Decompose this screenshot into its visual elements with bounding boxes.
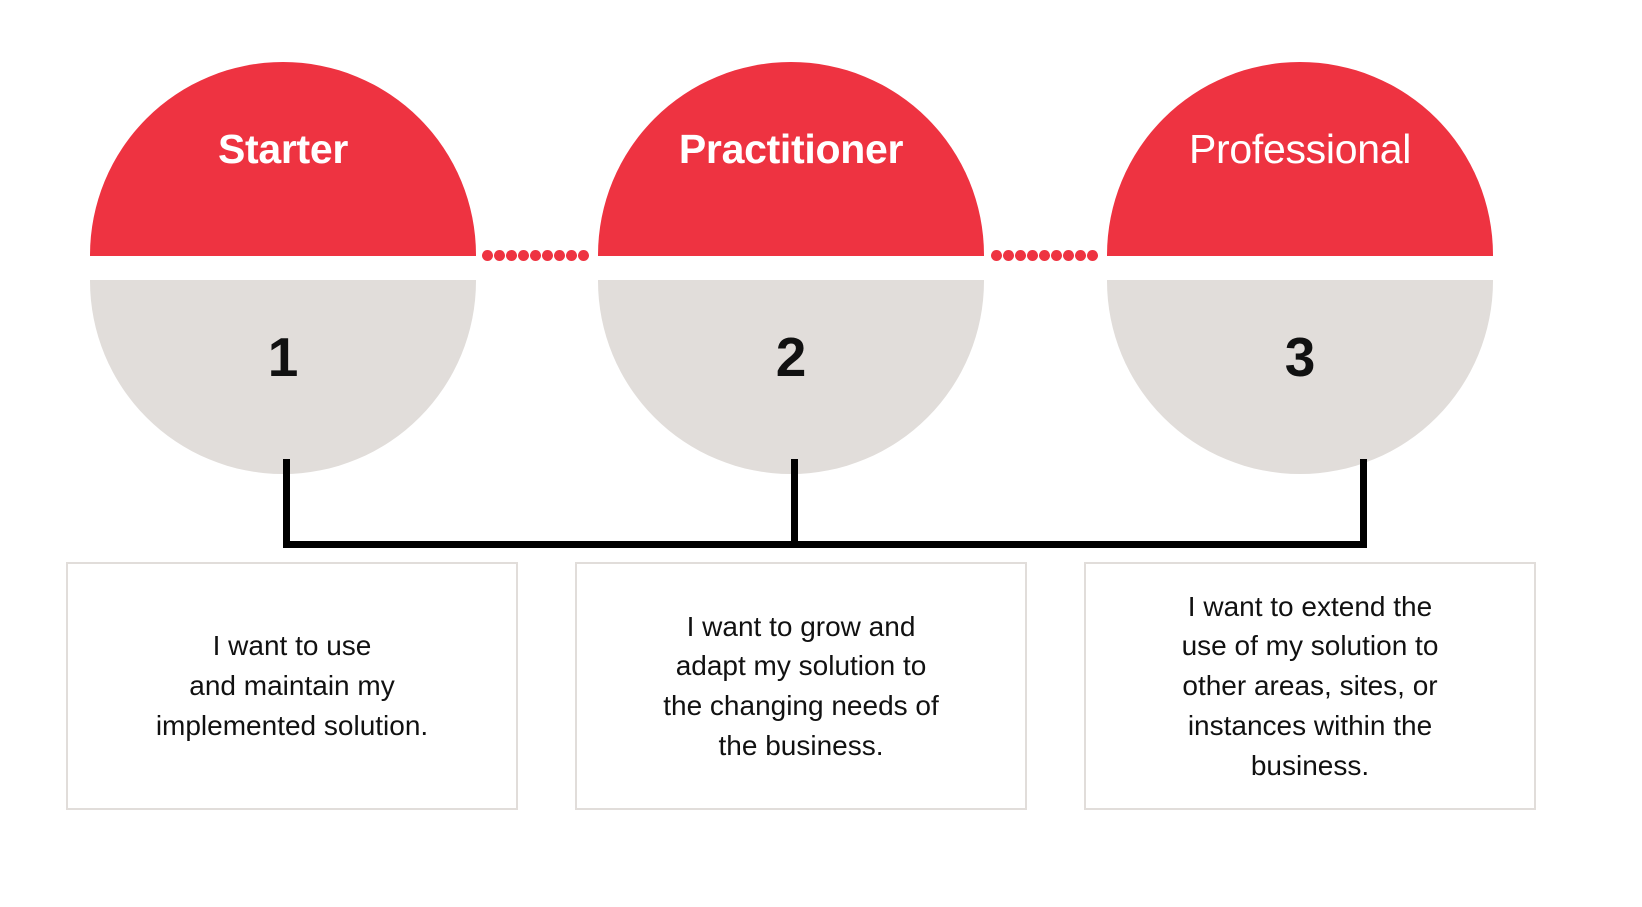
description-box-2[interactable]: I want to grow and adapt my solution to …: [575, 562, 1027, 810]
connector-dot: [1039, 250, 1050, 261]
stage-1-red-half: Starter: [90, 62, 476, 256]
stage-3-gray-half: 3: [1107, 280, 1493, 474]
description-text-2: I want to grow and adapt my solution to …: [663, 607, 939, 766]
dotted-connector-1-2: [482, 250, 589, 261]
bracket-stem-2: [791, 459, 798, 548]
stage-1-number: 1: [268, 330, 299, 385]
description-box-3[interactable]: I want to extend the use of my solution …: [1084, 562, 1536, 810]
stage-1-gray-half: 1: [90, 280, 476, 474]
bracket-horizontal-bar: [283, 541, 1367, 548]
connector-dot: [1075, 250, 1086, 261]
bracket-stem-1: [283, 459, 290, 548]
stage-2-gray-half: 2: [598, 280, 984, 474]
connector-dot: [1003, 250, 1014, 261]
stage-node-1[interactable]: Starter 1: [90, 62, 476, 458]
connector-dot: [482, 250, 493, 261]
stage-3-number: 3: [1285, 330, 1316, 385]
connector-dot: [1051, 250, 1062, 261]
connector-dot: [542, 250, 553, 261]
description-box-1[interactable]: I want to use and maintain my implemente…: [66, 562, 518, 810]
dotted-connector-2-3: [991, 250, 1098, 261]
connector-dot: [518, 250, 529, 261]
connector-dot: [1063, 250, 1074, 261]
connector-dot: [506, 250, 517, 261]
connector-dot: [530, 250, 541, 261]
stage-node-3[interactable]: Professional 3: [1107, 62, 1493, 458]
stage-node-2[interactable]: Practitioner 2: [598, 62, 984, 458]
stage-2-number: 2: [776, 330, 807, 385]
stage-2-label: Practitioner: [679, 129, 903, 170]
connector-dot: [554, 250, 565, 261]
connector-dot: [578, 250, 589, 261]
stage-2-red-half: Practitioner: [598, 62, 984, 256]
connector-dot: [566, 250, 577, 261]
connector-dot: [1015, 250, 1026, 261]
stage-1-label: Starter: [218, 129, 348, 170]
connector-dot: [991, 250, 1002, 261]
stage-3-label: Professional: [1189, 129, 1411, 170]
connector-dot: [1087, 250, 1098, 261]
connector-dot: [494, 250, 505, 261]
description-text-1: I want to use and maintain my implemente…: [156, 626, 428, 745]
description-text-3: I want to extend the use of my solution …: [1182, 587, 1439, 786]
connector-dot: [1027, 250, 1038, 261]
bracket-stem-3: [1360, 459, 1367, 548]
stage-3-red-half: Professional: [1107, 62, 1493, 256]
diagram-canvas: Starter 1 Practitioner 2 Professional 3: [0, 0, 1642, 907]
